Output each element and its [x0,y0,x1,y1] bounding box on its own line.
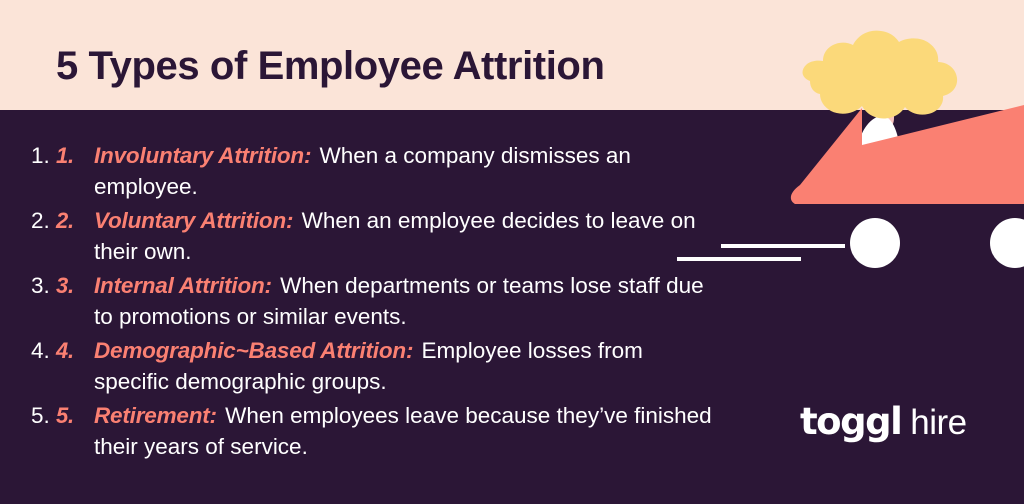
front-wheel-shape [850,218,900,268]
hair-blob-shape [803,31,958,119]
list-item: 4. Demographic~Based Attrition: Employee… [56,335,716,397]
list-item-number: 4. [56,335,74,366]
list-item-number: 2. [56,205,74,236]
car-body-shape [791,105,1024,204]
toggl-hire-logo: toggl hire [800,400,967,443]
logo-secondary-text: hire [910,403,966,443]
list-item: 3. Internal Attrition: When departments … [56,270,716,332]
rear-wheel-shape [990,218,1024,268]
attrition-type-list: 1. Involuntary Attrition: When a company… [56,140,716,465]
list-item-term: Demographic~Based Attrition: [94,338,413,363]
list-item-term: Involuntary Attrition: [94,143,311,168]
speed-line-upper [721,244,845,248]
infographic-canvas: 5 Types of Employee Attrition 1. Involun… [0,0,1024,504]
list-item-number: 1. [56,140,74,171]
list-item: 1. Involuntary Attrition: When a company… [56,140,716,202]
page-title: 5 Types of Employee Attrition [56,44,604,89]
list-item: 2. Voluntary Attrition: When an employee… [56,205,716,267]
logo-primary-text: toggl [800,400,901,443]
list-item-term: Retirement: [94,403,217,428]
list-item-term: Internal Attrition: [94,273,272,298]
list-item-term: Voluntary Attrition: [94,208,293,233]
list-item-number: 3. [56,270,74,301]
list-item-number: 5. [56,400,74,431]
list-item: 5. Retirement: When employees leave beca… [56,400,716,462]
